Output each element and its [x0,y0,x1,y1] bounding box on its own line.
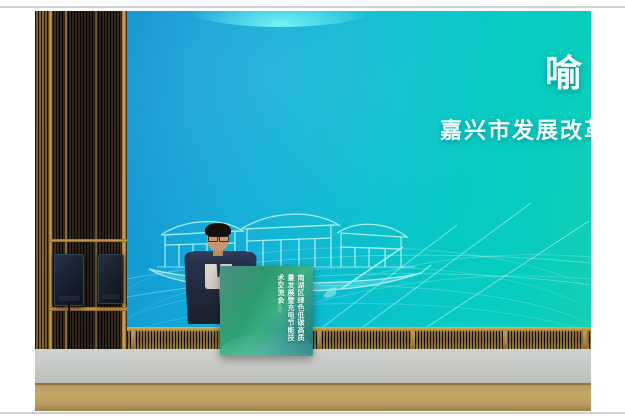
stage-photograph: 喻 伟 嘉兴市发展改革委副主任 [35,11,591,411]
screen-speaker-name: 喻 伟 [501,43,591,97]
top-divider-rule [0,6,625,8]
brass-rail-horizontal [49,307,127,311]
podium-lectern: 南湖区绿色低碳高质量发展暨充电节能技术交流会 绿色低碳 节能先行 [220,266,313,356]
stage-front-fascia [35,385,591,411]
brass-rail-horizontal [49,239,127,242]
bottom-divider-rule [0,412,625,414]
stage-floor [35,349,591,387]
podium-sign-secondary-text: 绿色低碳 节能先行 [277,276,283,342]
stage-loudspeaker [54,254,84,306]
image-frame: 喻 伟 嘉兴市发展改革委副主任 [0,0,625,420]
glasses-icon [208,235,229,240]
stage-loudspeaker [98,254,124,304]
screen-speaker-role: 嘉兴市发展改革委副主任 [427,113,591,145]
